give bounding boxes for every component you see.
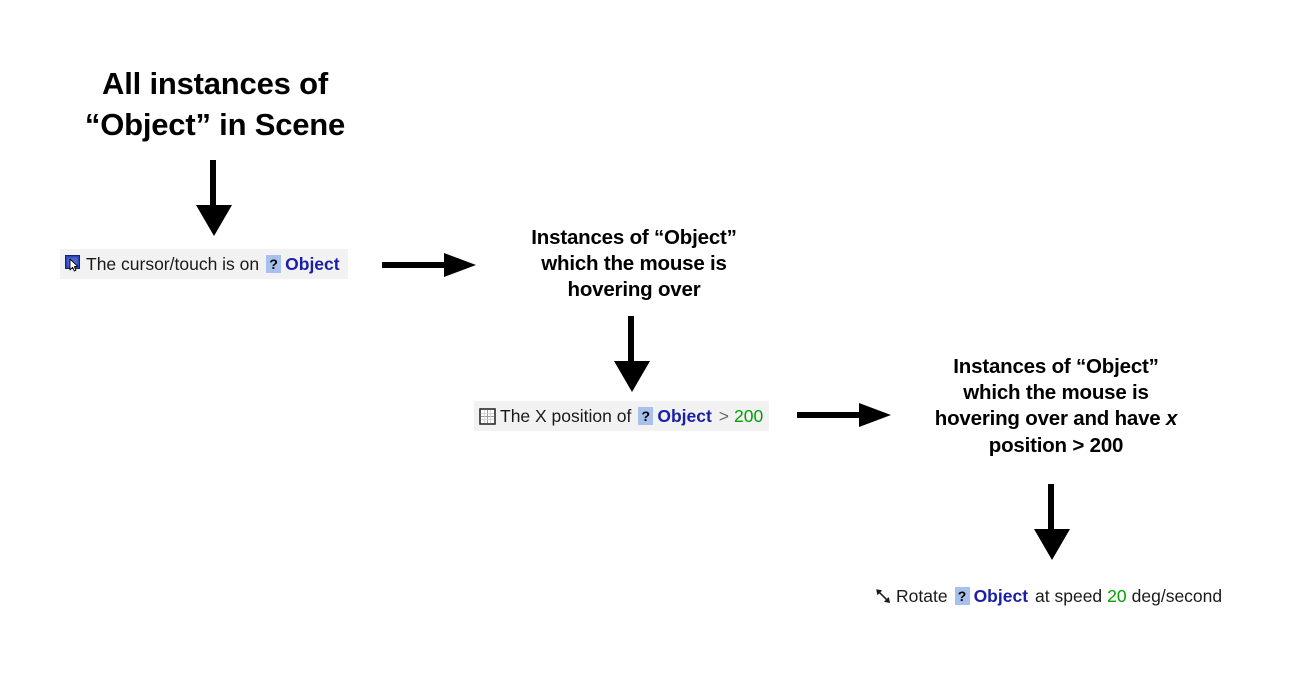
- mouse-cursor-icon: [64, 255, 83, 274]
- annotation-hovering-and-x-position: Instances of “Object” which the mouse is…: [925, 354, 1187, 459]
- annotation3-line4: position > 200: [989, 434, 1123, 457]
- annotation-hovering-over: Instances of “Object” which the mouse is…: [508, 225, 760, 304]
- condition-cursor-on-object[interactable]: The cursor/touch is on ? Object: [60, 249, 348, 279]
- object-reference-3[interactable]: ? Object: [955, 586, 1028, 607]
- object-reference-2[interactable]: ? Object: [638, 406, 711, 427]
- arrow-down-annotation-to-condition2: [608, 316, 656, 394]
- action-rotate-object[interactable]: Rotate ? Object at speed 20 deg/second: [870, 581, 1228, 611]
- arrow-right-condition1-to-annotation: [382, 250, 478, 280]
- comparison-value[interactable]: 200: [734, 406, 763, 427]
- annotation3-line3a: hovering over and have: [935, 407, 1166, 430]
- object-badge-icon: ?: [266, 255, 281, 273]
- condition1-text-before: The cursor/touch is on: [86, 254, 259, 275]
- object-name-label: Object: [970, 586, 1028, 607]
- comparison-operator: >: [719, 406, 729, 427]
- arrow-right-condition2-to-annotation: [797, 400, 893, 430]
- action-text-units: deg/second: [1132, 586, 1223, 607]
- object-badge-icon: ?: [638, 407, 653, 425]
- object-name-label: Object: [281, 254, 339, 275]
- annotation3-x-variable: x: [1166, 407, 1177, 430]
- rotate-arrow-icon: [874, 587, 893, 606]
- object-name-label: Object: [653, 406, 711, 427]
- object-badge-icon: ?: [955, 587, 970, 605]
- arrow-down-title-to-condition1: [190, 160, 238, 238]
- page-title: All instances of “Object” in Scene: [40, 64, 390, 146]
- arrow-down-annotation-to-action: [1028, 484, 1076, 562]
- annotation3-line1: Instances of “Object”: [953, 355, 1158, 378]
- action-text-before: Rotate: [896, 586, 948, 607]
- annotation3-line2: which the mouse is: [963, 381, 1149, 404]
- object-reference-1[interactable]: ? Object: [266, 254, 339, 275]
- action-text-at-speed: at speed: [1035, 586, 1102, 607]
- position-grid-icon: [478, 407, 497, 426]
- action-speed-value[interactable]: 20: [1107, 586, 1126, 607]
- condition-x-position[interactable]: The X position of ? Object > 200: [474, 401, 769, 431]
- condition2-text-before: The X position of: [500, 406, 631, 427]
